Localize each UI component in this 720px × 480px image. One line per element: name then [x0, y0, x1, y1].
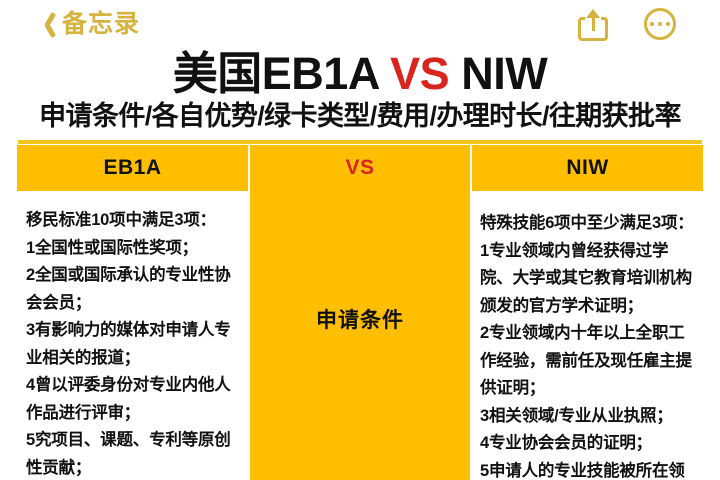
top-navbar: 备忘录 [0, 0, 720, 48]
comparison-table: EB1A 移民标准10项中满足3项： 1全国性或国际性奖项； 2全国或国际承认的… [17, 145, 703, 480]
share-arrow-head [586, 9, 600, 18]
cell-niw-requirements: 特殊技能6项中至少满足3项： 1专业领域内曾经获得过学院、大学或其它教育培训机构… [470, 191, 703, 480]
list-item: 5究项目、课题、专利等原创性贡献； [26, 427, 240, 480]
headline-block: 美国EB1A VS NIW 申请条件/各自优势/绿卡类型/费用/办理时长/往期获… [0, 48, 720, 131]
share-upload-icon[interactable] [578, 8, 608, 41]
list-item: 4专业协会会员的证明； [480, 430, 697, 458]
column-header-niw: NIW [470, 145, 703, 191]
list-item: 1专业领域内曾经获得过学院、大学或其它教育培训机构颁发的官方学术证明； [480, 238, 697, 321]
back-button[interactable]: 备忘录 [38, 11, 140, 38]
list-item: 2全国或国际承认的专业性协会会员； [26, 262, 240, 317]
cell-eb1a-requirements: 移民标准10项中满足3项： 1全国性或国际性奖项； 2全国或国际承认的专业性协会… [17, 191, 248, 480]
title-part-2: NIW [449, 48, 547, 99]
table-column-eb1a: EB1A 移民标准10项中满足3项： 1全国性或国际性奖项； 2全国或国际承认的… [17, 145, 248, 480]
ellipsis-dot-1 [650, 22, 654, 26]
title-vs: VS [390, 48, 449, 99]
title-part-1: 美国EB1A [173, 48, 390, 99]
list-item: 5申请人的专业技能被所在领域的同事、同行或者业内组织认可 [480, 458, 697, 480]
title-underline-rule [18, 140, 702, 144]
list-item: 特殊技能6项中至少满足3项： [480, 210, 697, 238]
list-item: 2专业领域内十年以上全职工作经验，需前任及现任雇主提供证明； [480, 320, 697, 403]
list-item: 1全国性或国际性奖项； [26, 235, 240, 263]
column-header-vs: VS [248, 145, 470, 191]
table-column-vs: VS 申请条件 [248, 145, 470, 480]
page-subtitle: 申请条件/各自优势/绿卡类型/费用/办理时长/往期获批率 [0, 101, 720, 131]
list-item: 移民标准10项中满足3项： [26, 207, 240, 235]
eb1a-requirement-list: 移民标准10项中满足3项： 1全国性或国际性奖项； 2全国或国际承认的专业性协会… [26, 207, 240, 480]
more-ellipsis-icon[interactable] [644, 8, 676, 40]
cell-row-label: 申请条件 [248, 191, 470, 480]
list-item: 3有影响力的媒体对申请人专业相关的报道； [26, 317, 240, 372]
row-label-application-requirements: 申请条件 [316, 304, 404, 334]
navbar-actions [578, 8, 676, 41]
niw-requirement-list: 特殊技能6项中至少满足3项： 1专业领域内曾经获得过学院、大学或其它教育培训机构… [480, 210, 697, 480]
column-header-eb1a: EB1A [17, 145, 248, 191]
ellipsis-dot-3 [666, 22, 670, 26]
list-item: 3相关领域/专业从业执照； [480, 403, 697, 431]
page-title: 美国EB1A VS NIW [0, 48, 720, 100]
nav-title: 备忘录 [62, 12, 140, 37]
list-item: 4曾以评委身份对专业内他人作品进行评审； [26, 372, 240, 427]
chevron-left-icon [38, 11, 55, 38]
ellipsis-dot-2 [658, 22, 662, 26]
table-column-niw: NIW 特殊技能6项中至少满足3项： 1专业领域内曾经获得过学院、大学或其它教育… [470, 145, 703, 480]
